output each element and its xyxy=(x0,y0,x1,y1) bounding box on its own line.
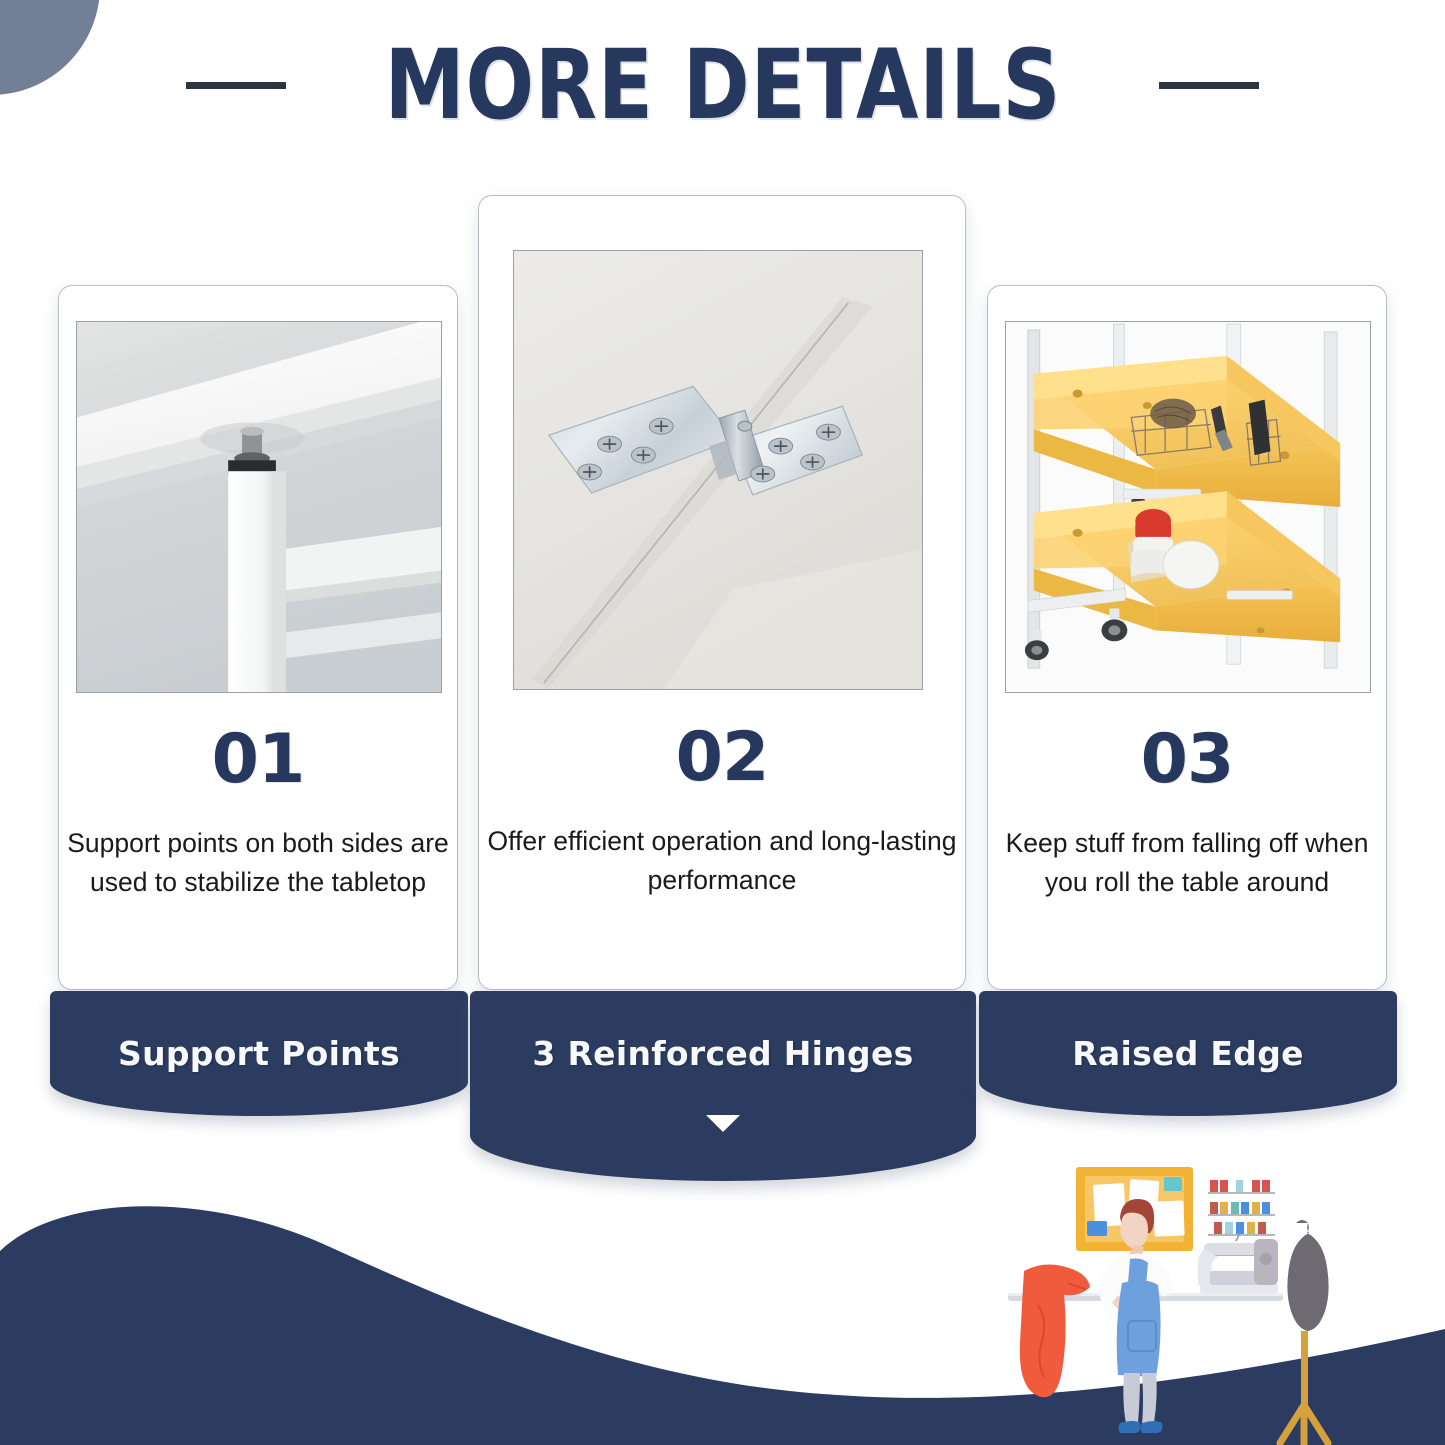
feature-card-01[interactable]: 01 Support points on both sides are used… xyxy=(58,285,458,990)
dress-form xyxy=(1280,1220,1329,1445)
sewing-room-scene xyxy=(982,1155,1445,1445)
card-banner-02[interactable]: 3 Reinforced Hinges xyxy=(470,991,976,1181)
red-fabric xyxy=(1020,1264,1090,1397)
card-number-01: 01 xyxy=(59,726,457,794)
rolling-cart-raised-edge-shelves-photo xyxy=(1005,321,1371,693)
chevron-down-icon[interactable] xyxy=(706,1115,740,1132)
card-body-03: 03 Keep stuff from falling off when you … xyxy=(988,726,1386,902)
feature-card-03[interactable]: 03 Keep stuff from falling off when you … xyxy=(987,285,1387,990)
card-description-02: Offer efficient operation and long-lasti… xyxy=(479,822,965,900)
feature-cards-row: 01 Support points on both sides are used… xyxy=(0,0,1445,1200)
card-number-02: 02 xyxy=(479,724,965,792)
table-leg-support-point-photo xyxy=(76,321,442,693)
card-body-02: 02 Offer efficient operation and long-la… xyxy=(479,724,965,900)
card-number-03: 03 xyxy=(988,726,1386,794)
card-body-01: 01 Support points on both sides are used… xyxy=(59,726,457,902)
card-banner-label-01: Support Points xyxy=(118,1034,400,1073)
feature-card-02[interactable]: 02 Offer efficient operation and long-la… xyxy=(478,195,966,990)
card-banner-03[interactable]: Raised Edge xyxy=(979,991,1397,1116)
card-banner-label-03: Raised Edge xyxy=(1072,1034,1304,1073)
sewing-machine xyxy=(1198,1233,1278,1293)
infographic-page: MORE DETAILS xyxy=(0,0,1445,1445)
metal-hinge-closeup-photo xyxy=(513,250,923,690)
card-banner-label-02: 3 Reinforced Hinges xyxy=(532,1034,913,1073)
card-description-03: Keep stuff from falling off when you rol… xyxy=(988,824,1386,902)
card-description-01: Support points on both sides are used to… xyxy=(59,824,457,902)
card-banner-01[interactable]: Support Points xyxy=(50,991,468,1116)
